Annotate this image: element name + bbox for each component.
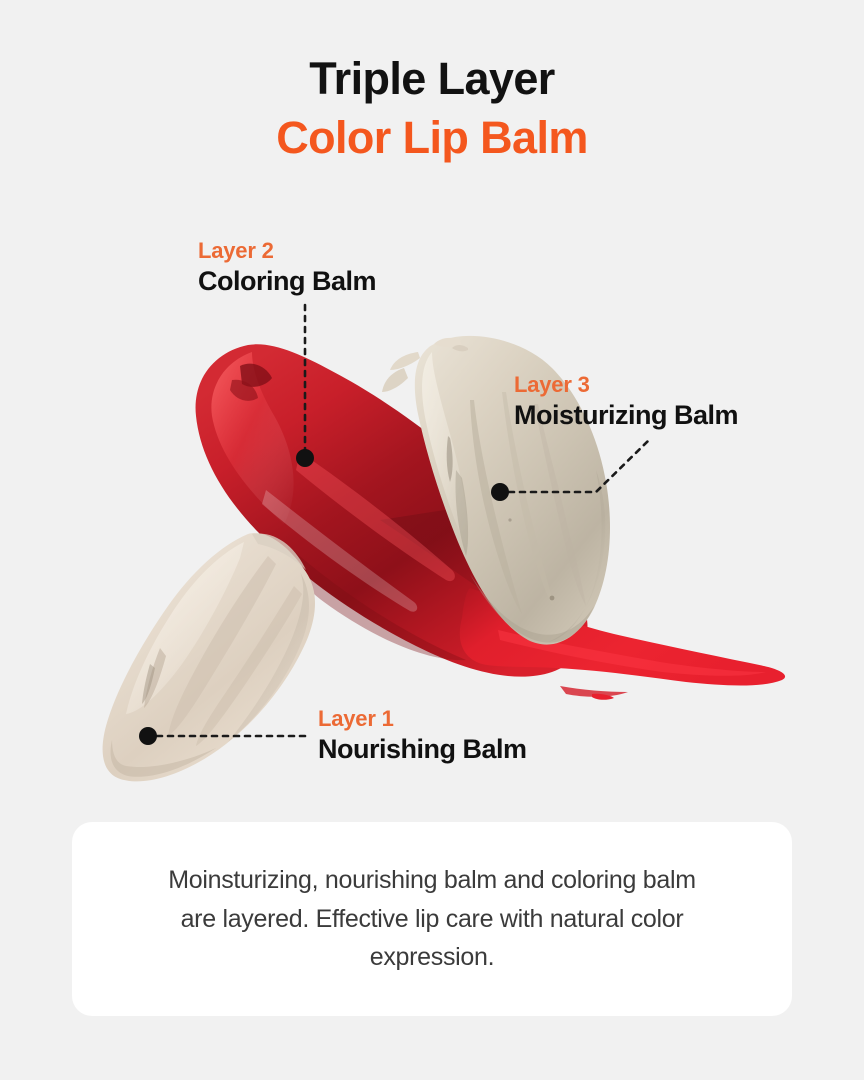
page-title: Triple Layer Color Lip Balm xyxy=(0,50,864,167)
title-line-1: Triple Layer xyxy=(0,50,864,109)
callout-layer-1-name: Nourishing Balm xyxy=(318,733,527,767)
nourishing-balm-cream-swatch xyxy=(103,533,315,781)
description-text: Moinsturizing, nourishing balm and color… xyxy=(152,861,712,977)
callout-layer-3-name: Moisturizing Balm xyxy=(514,399,738,433)
callout-layer-2: Layer 2 Coloring Balm xyxy=(198,237,376,298)
callout-layer-2-tag: Layer 2 xyxy=(198,237,376,265)
callout-layer-1-tag: Layer 1 xyxy=(318,705,527,733)
callout-dot-layer-2 xyxy=(296,449,314,467)
callout-dot-layer-3 xyxy=(491,483,509,501)
connector-layer-3 xyxy=(509,441,648,492)
callout-layer-1: Layer 1 Nourishing Balm xyxy=(318,705,527,766)
callout-dot-layer-1 xyxy=(139,727,157,745)
callout-layer-3-tag: Layer 3 xyxy=(514,371,738,399)
description-card: Moinsturizing, nourishing balm and color… xyxy=(72,822,792,1016)
red-smear-tail xyxy=(460,588,785,700)
title-line-2: Color Lip Balm xyxy=(0,109,864,168)
callout-layer-2-name: Coloring Balm xyxy=(198,265,376,299)
callout-layer-3: Layer 3 Moisturizing Balm xyxy=(514,371,738,432)
